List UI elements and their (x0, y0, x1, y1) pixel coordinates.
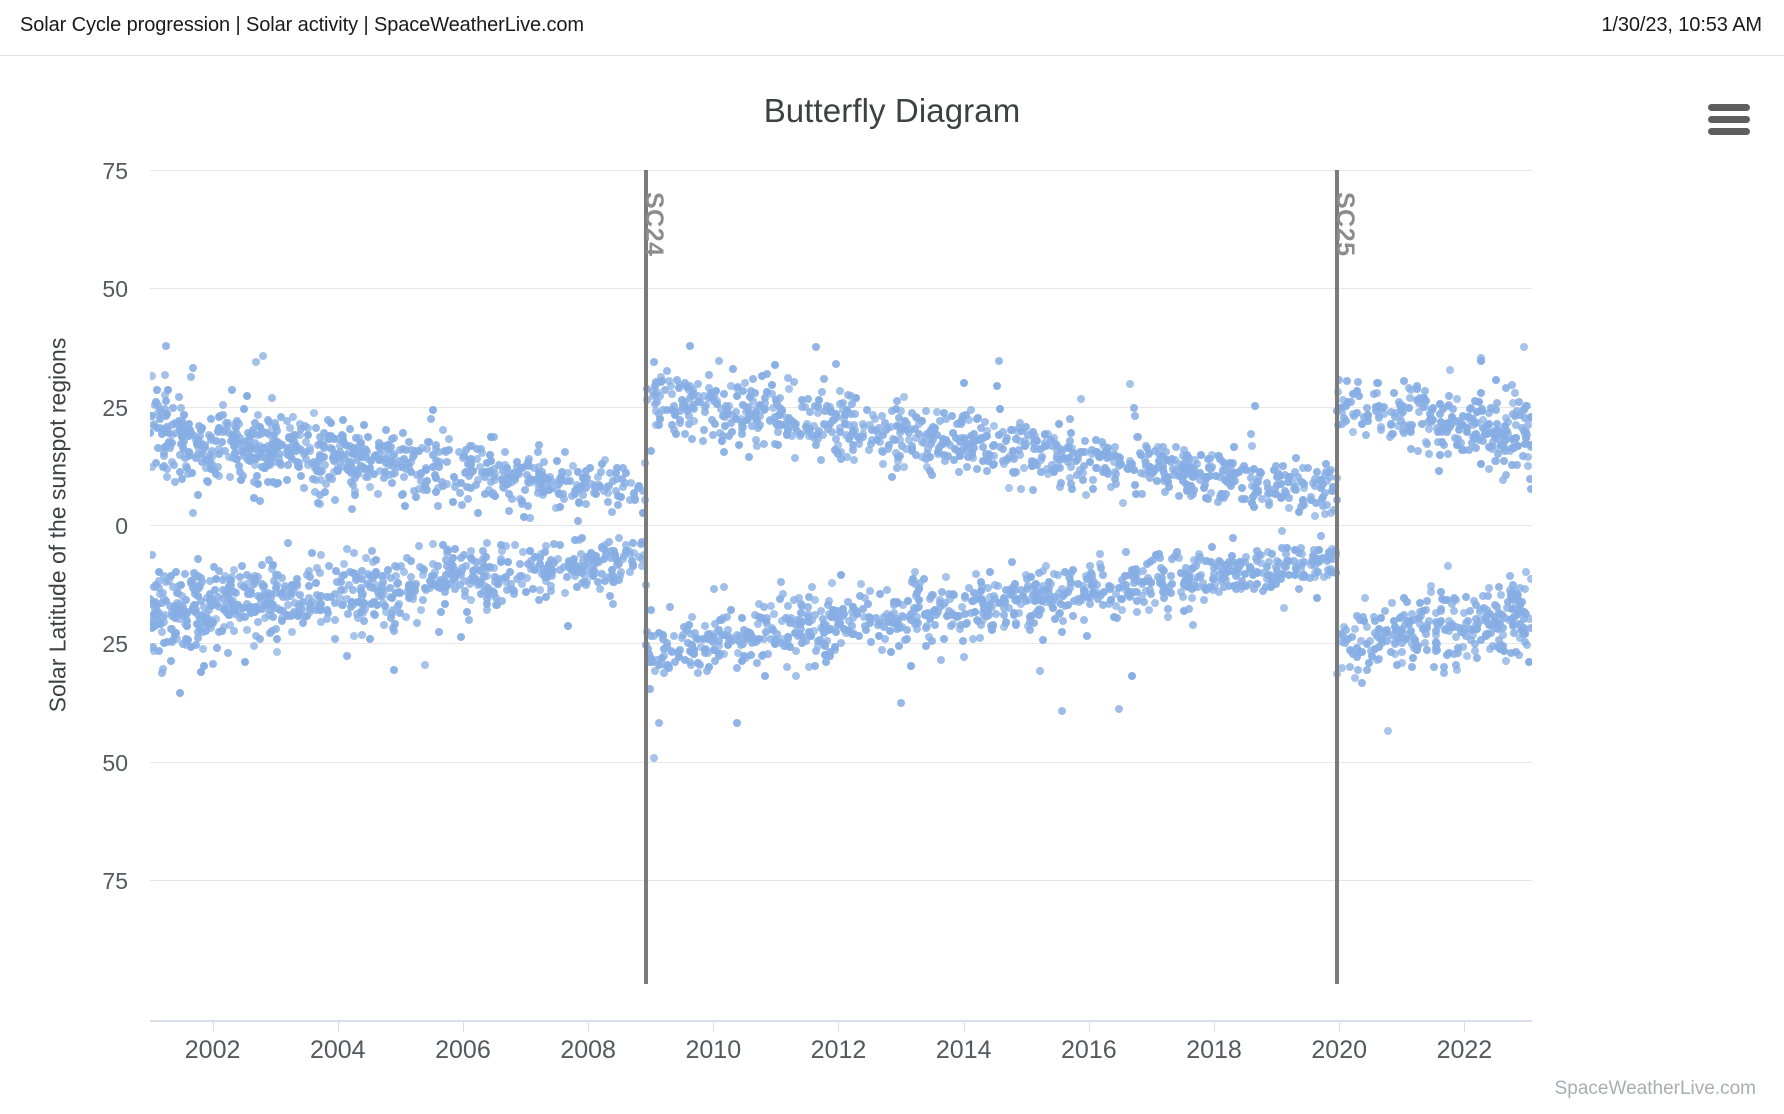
scatter-point (1365, 659, 1373, 667)
scatter-point (1254, 486, 1262, 494)
scatter-point (344, 610, 352, 618)
scatter-point (983, 467, 991, 475)
scatter-point (709, 431, 717, 439)
scatter-point (685, 420, 693, 428)
scatter-point (758, 372, 766, 380)
scatter-point (207, 433, 215, 441)
scatter-point (1361, 594, 1369, 602)
scatter-point (350, 549, 358, 557)
scatter-point (897, 426, 905, 434)
scatter-point (1010, 469, 1018, 477)
scatter-point (1493, 603, 1501, 611)
scatter-point (534, 448, 542, 456)
scatter-point (1295, 585, 1303, 593)
scatter-point (520, 513, 528, 521)
scatter-point (392, 572, 400, 580)
scatter-point (1377, 614, 1385, 622)
scatter-point (1464, 617, 1472, 625)
scatter-point (1414, 447, 1422, 455)
scatter-point (696, 661, 704, 669)
scatter-point (1066, 584, 1074, 592)
scatter-point (560, 495, 568, 503)
scatter-point (458, 501, 466, 509)
scatter-point (513, 575, 521, 583)
scatter-point (1134, 433, 1142, 441)
scatter-point (612, 469, 620, 477)
scatter-point (1048, 466, 1056, 474)
scatter-point (519, 548, 527, 556)
scatter-point (811, 662, 819, 670)
scatter-point (405, 582, 413, 590)
scatter-point (215, 472, 223, 480)
scatter-point (720, 583, 728, 591)
scatter-point (169, 404, 177, 412)
scatter-point (457, 633, 465, 641)
scatter-point (158, 628, 166, 636)
scatter-point (802, 637, 810, 645)
x-axis-tick (1464, 1022, 1465, 1032)
scatter-point (252, 632, 260, 640)
scatter-point (879, 460, 887, 468)
scatter-point (849, 441, 857, 449)
scatter-point (358, 592, 366, 600)
scatter-point (258, 427, 266, 435)
scatter-point (375, 439, 383, 447)
scatter-point (846, 433, 854, 441)
scatter-point (1037, 468, 1045, 476)
scatter-point (1204, 495, 1212, 503)
scatter-point (963, 463, 971, 471)
scatter-point (745, 453, 753, 461)
scatter-point (1516, 411, 1524, 419)
scatter-point (670, 632, 678, 640)
scatter-point (1395, 628, 1403, 636)
scatter-point (1022, 440, 1030, 448)
scatter-point (591, 484, 599, 492)
scatter-point (1400, 594, 1408, 602)
scatter-point (1398, 639, 1406, 647)
scatter-point (1188, 594, 1196, 602)
scatter-point (1219, 566, 1227, 574)
scatter-point (688, 613, 696, 621)
scatter-point (574, 517, 582, 525)
menu-bar-1 (1708, 104, 1750, 111)
scatter-point (1449, 405, 1457, 413)
scatter-point (1099, 571, 1107, 579)
scatter-point (556, 541, 564, 549)
scatter-point (254, 411, 262, 419)
scatter-point (250, 494, 258, 502)
scatter-point (1248, 442, 1256, 450)
scatter-point (650, 358, 658, 366)
scatter-point (445, 435, 453, 443)
scatter-point (1031, 459, 1039, 467)
scatter-point (447, 579, 455, 587)
scatter-point (1005, 484, 1013, 492)
scatter-point (1238, 484, 1246, 492)
scatter-point (194, 491, 202, 499)
scatter-point (694, 669, 702, 677)
scatter-point (959, 637, 967, 645)
scatter-point (393, 580, 401, 588)
scatter-point (1351, 674, 1359, 682)
scatter-point (176, 451, 184, 459)
scatter-point (521, 486, 529, 494)
scatter-point (1509, 399, 1517, 407)
scatter-point (1390, 617, 1398, 625)
scatter-point (768, 390, 776, 398)
scatter-point (1500, 428, 1508, 436)
scatter-point (1068, 485, 1076, 493)
scatter-point (1341, 639, 1349, 647)
scatter-point (676, 407, 684, 415)
x-axis-tick-label: 2008 (528, 1036, 648, 1065)
scatter-point (1218, 490, 1226, 498)
scatter-point (615, 534, 623, 542)
scatter-point (1398, 648, 1406, 656)
scatter-point (308, 598, 316, 606)
scatter-point (898, 612, 906, 620)
scatter-point (1411, 636, 1419, 644)
menu-bar-2 (1708, 116, 1750, 123)
scatter-point (1086, 562, 1094, 570)
scatter-point (554, 555, 562, 563)
scatter-point (1485, 584, 1493, 592)
scatter-point (904, 597, 912, 605)
scatter-point (776, 595, 784, 603)
scatter-point (1425, 450, 1433, 458)
scatter-point (456, 489, 464, 497)
scatter-point (979, 457, 987, 465)
scatter-point (738, 614, 746, 622)
scatter-point (1079, 476, 1087, 484)
scatter-point (1185, 605, 1193, 613)
scatter-point (573, 563, 581, 571)
scatter-point (837, 639, 845, 647)
scatter-point (564, 622, 572, 630)
scatter-point (1415, 408, 1423, 416)
scatter-point (151, 598, 159, 606)
y-axis-tick-label: 75 (68, 868, 128, 895)
scatter-point (563, 573, 571, 581)
scatter-point (1477, 389, 1485, 397)
scatter-point (1152, 551, 1160, 559)
scatter-point (483, 539, 491, 547)
scatter-point (1189, 564, 1197, 572)
scatter-point (226, 473, 234, 481)
scatter-point (1054, 571, 1062, 579)
scatter-point (743, 404, 751, 412)
scatter-point (243, 571, 251, 579)
scatter-point (760, 406, 768, 414)
scatter-point (1159, 588, 1167, 596)
butterfly-diagram-chart: Butterfly Diagram Solar Latitude of the … (0, 56, 1784, 1114)
x-axis-tick-label: 2020 (1279, 1036, 1399, 1065)
scatter-point (1077, 395, 1085, 403)
scatter-point (348, 505, 356, 513)
scatter-point (601, 541, 609, 549)
scatter-point (188, 469, 196, 477)
scatter-point (162, 342, 170, 350)
scatter-point (1460, 609, 1468, 617)
scatter-point (1373, 379, 1381, 387)
scatter-point (1375, 634, 1383, 642)
scatter-point (1146, 586, 1154, 594)
scatter-point (1151, 599, 1159, 607)
scatter-point (940, 635, 948, 643)
scatter-point (1081, 437, 1089, 445)
scatter-point (1421, 639, 1429, 647)
scatter-point (228, 386, 236, 394)
scatter-point (369, 584, 377, 592)
scatter-point (699, 437, 707, 445)
scatter-point (413, 619, 421, 627)
scatter-point (207, 415, 215, 423)
scatter-point (561, 448, 569, 456)
scatter-point (429, 540, 437, 548)
scatter-point (1200, 596, 1208, 604)
scatter-point (1351, 625, 1359, 633)
scatter-point (434, 484, 442, 492)
scatter-point (1039, 586, 1047, 594)
scatter-point (965, 416, 973, 424)
scatter-point (812, 343, 820, 351)
scatter-point (1100, 442, 1108, 450)
scatter-point (1066, 415, 1074, 423)
scatter-point (729, 365, 737, 373)
scatter-point (1089, 485, 1097, 493)
scatter-point (388, 479, 396, 487)
scatter-point (523, 471, 531, 479)
scatter-point (352, 576, 360, 584)
x-axis-tick (338, 1022, 339, 1032)
scatter-point (429, 406, 437, 414)
scatter-point (1038, 453, 1046, 461)
scatter-point (1492, 376, 1500, 384)
scatter-point (1002, 619, 1010, 627)
scatter-point (189, 509, 197, 517)
scatter-point (820, 629, 828, 637)
scatter-point (865, 446, 873, 454)
scatter-point (620, 552, 628, 560)
scatter-point (1320, 573, 1328, 581)
scatter-point (1193, 460, 1201, 468)
scatter-point (273, 648, 281, 656)
scatter-point (501, 448, 509, 456)
scatter-point (814, 637, 822, 645)
scatter-point (199, 628, 207, 636)
scatter-point (955, 612, 963, 620)
scatter-point (878, 447, 886, 455)
scatter-point (382, 426, 390, 434)
scatter-point (249, 426, 257, 434)
scatter-point (761, 672, 769, 680)
scatter-point (630, 490, 638, 498)
x-axis-line (150, 1020, 1532, 1022)
scatter-point (887, 648, 895, 656)
scatter-point (1285, 504, 1293, 512)
scatter-point (295, 602, 303, 610)
cycle-marker-line-sc25 (1335, 170, 1339, 984)
scatter-point (936, 417, 944, 425)
scatter-point (1493, 619, 1501, 627)
scatter-point (1313, 594, 1321, 602)
plot-area: Solar Latitude of the sunspot regions 75… (150, 170, 1532, 880)
scatter-point (888, 473, 896, 481)
scatter-point (1527, 575, 1533, 583)
scatter-point (715, 642, 723, 650)
scatter-point (986, 452, 994, 460)
scatter-point (490, 465, 498, 473)
scatter-point (971, 596, 979, 604)
scatter-point (1444, 450, 1452, 458)
scatter-point (150, 372, 156, 380)
scatter-point (1024, 431, 1032, 439)
scatter-point (733, 392, 741, 400)
scatter-point (230, 627, 238, 635)
scatter-point (1168, 580, 1176, 588)
y-axis-tick-label: 50 (68, 276, 128, 303)
scatter-point (451, 545, 459, 553)
scatter-point (911, 620, 919, 628)
scatter-point (1208, 543, 1216, 551)
scatter-point (1069, 612, 1077, 620)
scatter-point (1526, 475, 1532, 483)
scatter-point (911, 425, 919, 433)
scatter-point (378, 572, 386, 580)
scatter-point (1199, 579, 1207, 587)
hamburger-menu-icon[interactable] (1708, 104, 1750, 138)
x-axis-tick (1089, 1022, 1090, 1032)
scatter-point (273, 635, 281, 643)
scatter-point (655, 719, 663, 727)
scatter-point (388, 594, 396, 602)
scatter-point (1197, 451, 1205, 459)
scatter-point (1519, 452, 1527, 460)
scatter-point (701, 403, 709, 411)
scatter-point (428, 580, 436, 588)
scatter-point (316, 569, 324, 577)
scatter-point (252, 358, 260, 366)
scatter-point (399, 490, 407, 498)
scatter-point (1118, 595, 1126, 603)
x-axis-tick (838, 1022, 839, 1032)
scatter-point (199, 645, 207, 653)
scatter-point (297, 472, 305, 480)
scatter-point (283, 476, 291, 484)
scatter-point (647, 606, 655, 614)
scatter-point (272, 480, 280, 488)
scatter-point (1273, 557, 1281, 565)
cycle-marker-label-sc24: SC24 (639, 192, 668, 257)
scatter-point (716, 616, 724, 624)
scatter-point (949, 429, 957, 437)
scatter-point (1055, 420, 1063, 428)
scatter-point (218, 438, 226, 446)
scatter-point (362, 554, 370, 562)
scatter-point (350, 632, 358, 640)
scatter-point (878, 646, 886, 654)
scatter-point (164, 386, 172, 394)
scatter-point (1440, 669, 1448, 677)
scatter-point (1471, 434, 1479, 442)
scatter-point (686, 382, 694, 390)
scatter-point (278, 617, 286, 625)
scatter-point (1299, 496, 1307, 504)
scatter-point (1015, 609, 1023, 617)
scatter-point (788, 432, 796, 440)
scatter-point (856, 435, 864, 443)
scatter-point (931, 621, 939, 629)
scatter-point (1072, 457, 1080, 465)
scatter-point (266, 453, 274, 461)
scatter-point (1219, 468, 1227, 476)
scatter-point (1126, 380, 1134, 388)
scatter-point (1228, 474, 1236, 482)
scatter-point (1059, 617, 1067, 625)
scatter-point (460, 551, 468, 559)
scatter-point (768, 381, 776, 389)
scatter-point (155, 647, 163, 655)
scatter-point (1388, 599, 1396, 607)
scatter-point (833, 607, 841, 615)
scatter-point (1524, 421, 1532, 429)
scatter-point (259, 352, 267, 360)
scatter-point (596, 585, 604, 593)
scatter-point (357, 608, 365, 616)
scatter-point (539, 491, 547, 499)
scatter-point (183, 610, 191, 618)
scatter-point (721, 422, 729, 430)
scatter-point (1502, 657, 1510, 665)
x-axis-tick-label: 2004 (278, 1036, 398, 1065)
x-axis-tick (1214, 1022, 1215, 1032)
scatter-point (351, 491, 359, 499)
scatter-point (288, 628, 296, 636)
scatter-point (817, 456, 825, 464)
scatter-point (483, 600, 491, 608)
scatter-point (1492, 406, 1500, 414)
scatter-point (1212, 472, 1220, 480)
scatter-point (162, 397, 170, 405)
scatter-point (511, 541, 519, 549)
scatter-point (176, 689, 184, 697)
scatter-point (390, 666, 398, 674)
scatter-point (1452, 623, 1460, 631)
x-axis-tick-label: 2022 (1404, 1036, 1524, 1065)
scatter-point (175, 582, 183, 590)
scatter-point (536, 586, 544, 594)
scatter-point (573, 583, 581, 591)
scatter-point (986, 593, 994, 601)
scatter-point (182, 462, 190, 470)
scatter-point (260, 464, 268, 472)
scatter-point (250, 642, 258, 650)
scatter-point (561, 589, 569, 597)
scatter-point (321, 488, 329, 496)
scatter-point (582, 500, 590, 508)
scatter-point (753, 659, 761, 667)
scatter-point (558, 468, 566, 476)
scatter-point (844, 391, 852, 399)
scatter-point (1373, 389, 1381, 397)
scatter-point (1179, 477, 1187, 485)
scatter-point (368, 547, 376, 555)
scatter-point (1242, 553, 1250, 561)
scatter-point (364, 433, 372, 441)
scatter-point (928, 471, 936, 479)
scatter-point (1247, 430, 1255, 438)
